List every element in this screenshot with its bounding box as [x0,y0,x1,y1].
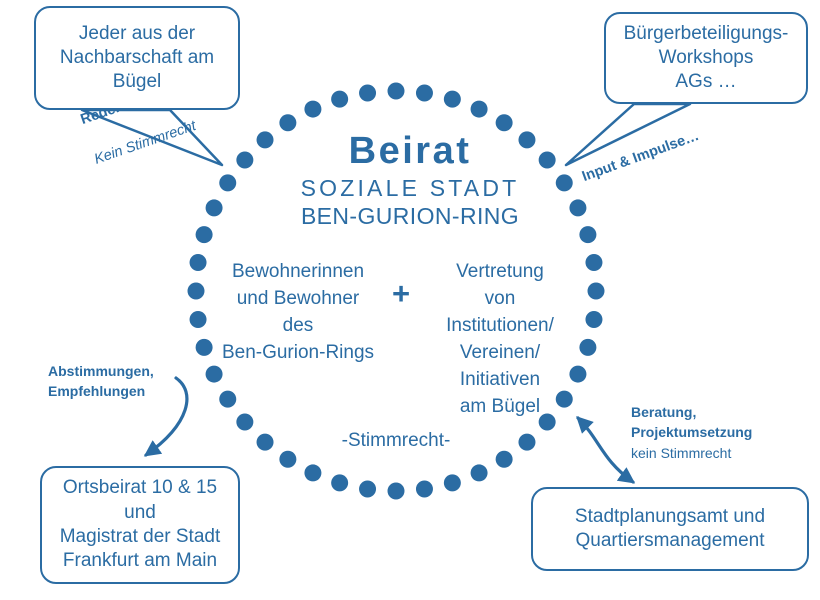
bubble-neighbourhood[interactable]: Jeder aus der Nachbarschaft am Bügel [34,6,240,110]
box-stadtplanung-text: Stadtplanungsamt und Quartiersmanagement [565,501,775,558]
box-ortsbeirat-text: Ortsbeirat 10 & 15 und Magistrat der Sta… [50,472,231,577]
diagram-canvas: Jeder aus der Nachbarschaft am Bügel Bür… [0,0,820,600]
voting-rights-note: -Stimmrecht- [296,430,496,452]
subtitle-ben-gurion-ring: BEN-GURION-RING [0,203,820,230]
box-stadtplanungsamt-quartiersmanagement[interactable]: Stadtplanungsamt und Quartiersmanagement [531,487,809,571]
label-beratung-projektumsetzung: Beratung, Projektumsetzung kein Stimmrec… [631,402,752,463]
subtitle-soziale-stadt: SOZIALE STADT [0,175,820,202]
bubble-neighbourhood-text: Jeder aus der Nachbarschaft am Bügel [50,18,224,99]
arrow-beratung [578,418,633,482]
plus-icon: + [388,276,414,312]
bubble-workshops[interactable]: Bürgerbeteiligungs- Workshops AGs … [604,12,808,104]
label-beratung-main: Beratung, Projektumsetzung [631,404,752,440]
label-beratung-sub: kein Stimmrecht [631,445,731,461]
members-column-residents: Bewohnerinnen und Bewohner des Ben-Gurio… [206,259,390,367]
members-column-institutions: Vertretung von Institutionen/ Vereinen/ … [420,259,580,421]
box-ortsbeirat-magistrat[interactable]: Ortsbeirat 10 & 15 und Magistrat der Sta… [40,466,240,584]
label-abstimmungen-empfehlungen: Abstimmungen, Empfehlungen [48,361,154,402]
bubble-workshops-text: Bürgerbeteiligungs- Workshops AGs … [614,18,799,99]
